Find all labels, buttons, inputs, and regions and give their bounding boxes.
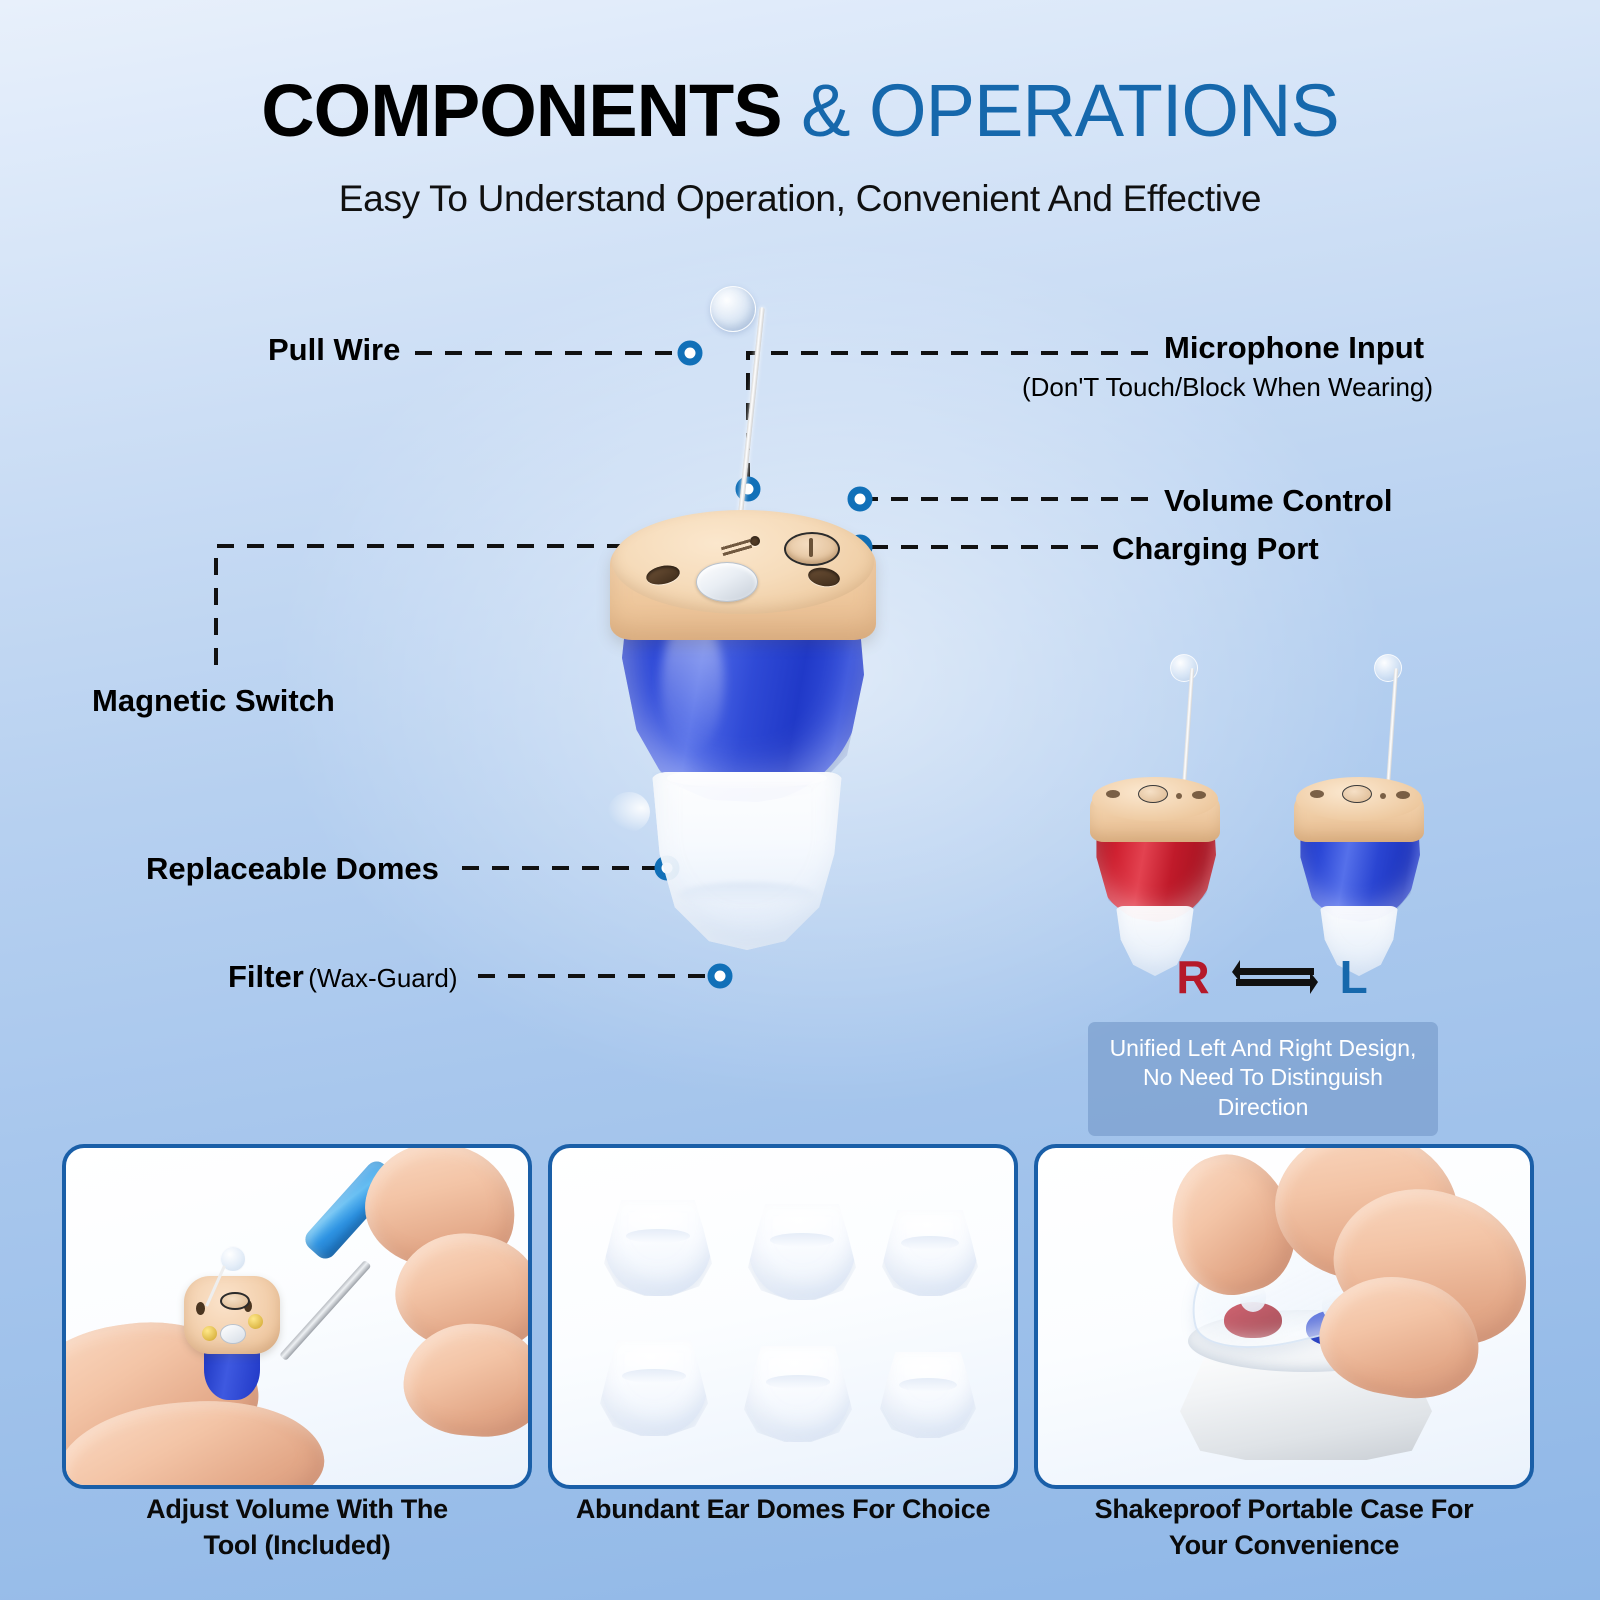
volume-control-knob	[1342, 785, 1372, 803]
pull-wire-strand	[737, 307, 765, 524]
device-top-face	[1092, 777, 1218, 821]
right-letter: R	[1176, 950, 1209, 1004]
bidirectional-arrows-icon	[1232, 955, 1318, 999]
caption-line-1: Shakeproof Portable Case For	[1034, 1492, 1534, 1528]
callout-label-volume-control: Volume Control	[1164, 483, 1392, 519]
panel-caption-adjust-volume: Adjust Volume With The Tool (Included)	[62, 1492, 532, 1563]
device-top-face	[612, 510, 874, 614]
gold-contact	[202, 1326, 217, 1341]
panel-ear-domes[interactable]	[548, 1144, 1018, 1489]
charging-port-hole	[1396, 791, 1410, 799]
pull-wire-strand	[1182, 668, 1194, 786]
caption-line-1: Unified Left And Right Design,	[1098, 1034, 1428, 1063]
feature-panels: Adjust Volume With The Tool (Included) A…	[0, 1140, 1600, 1600]
caption-line-2: Tool (Included)	[62, 1528, 532, 1564]
title-blue-part: & OPERATIONS	[801, 69, 1339, 152]
device-top-face	[1296, 777, 1422, 821]
panel-caption-portable-case: Shakeproof Portable Case For Your Conven…	[1034, 1492, 1534, 1563]
callout-label-charging-port: Charging Port	[1112, 531, 1319, 567]
microphone-vent-icon	[720, 536, 754, 562]
device-blue-shell	[204, 1346, 260, 1400]
ear-dome	[604, 1200, 712, 1296]
hearing-aid-illustration	[598, 472, 888, 832]
finger	[400, 1319, 532, 1441]
ear-dome	[880, 1352, 976, 1438]
hearing-aid-in-hand	[184, 1276, 280, 1396]
hearing-aid-left-blue	[1294, 740, 1424, 940]
ear-dome	[882, 1210, 978, 1296]
pull-wire-bead	[1170, 654, 1198, 682]
left-letter: L	[1340, 950, 1368, 1004]
charging-port-hole	[807, 565, 842, 588]
product-diagram: Pull Wire Microphone Input (Don'T Touch/…	[0, 250, 1600, 1130]
callout-sublabel-filter: (Wax-Guard)	[308, 963, 457, 993]
screwdriver-shaft	[279, 1260, 371, 1361]
magnetic-switch-port	[1310, 790, 1324, 798]
pull-wire-bead	[1374, 654, 1402, 682]
caption-line-2: No Need To Distinguish Direction	[1098, 1063, 1428, 1122]
callout-sublabel-microphone-input: (Don'T Touch/Block When Wearing)	[1022, 372, 1433, 403]
caption-line-2: Your Convenience	[1034, 1528, 1534, 1564]
header: COMPONENTS & OPERATIONS Easy To Understa…	[0, 0, 1600, 250]
marker-filter	[711, 967, 729, 985]
caption-line-1: Adjust Volume With The	[62, 1492, 532, 1528]
marker-pull-wire	[681, 344, 699, 362]
callout-label-microphone-input: Microphone Input	[1164, 330, 1424, 366]
ear-dome	[748, 1204, 856, 1300]
volume-control-knob	[220, 1292, 250, 1310]
device-top-face	[184, 1276, 280, 1354]
ear-dome	[744, 1346, 852, 1442]
pull-wire-bead	[710, 286, 756, 332]
hearing-aid-right-red	[1090, 740, 1220, 940]
page-title: COMPONENTS & OPERATIONS	[0, 74, 1600, 148]
panel-adjust-volume[interactable]	[62, 1144, 532, 1489]
left-right-swap-row: R L	[1082, 948, 1462, 1006]
charging-port-hole	[1192, 791, 1206, 799]
replaceable-dome	[652, 772, 842, 950]
magnetic-switch-plate	[220, 1324, 246, 1344]
gold-contact	[248, 1314, 263, 1329]
title-black-part: COMPONENTS	[261, 69, 781, 152]
left-right-pair: R L	[1082, 660, 1462, 990]
ear-dome	[600, 1340, 708, 1436]
pull-wire-strand	[1386, 668, 1398, 786]
callout-label-pull-wire: Pull Wire	[268, 332, 400, 368]
callout-label-magnetic-switch: Magnetic Switch	[92, 683, 335, 719]
magnetic-switch-port	[196, 1302, 205, 1315]
callout-label-filter-group: Filter (Wax-Guard)	[228, 959, 458, 995]
callout-label-replaceable-domes: Replaceable Domes	[146, 851, 439, 887]
dome-highlight	[608, 792, 650, 832]
panel-caption-ear-domes: Abundant Ear Domes For Choice	[548, 1492, 1018, 1528]
unified-design-caption: Unified Left And Right Design, No Need T…	[1088, 1022, 1438, 1136]
microphone-input-hole	[1176, 793, 1182, 799]
volume-control-knob	[1138, 785, 1168, 803]
volume-control-knob	[784, 532, 840, 566]
callout-label-filter: Filter	[228, 959, 304, 994]
page-subtitle: Easy To Understand Operation, Convenient…	[0, 178, 1600, 220]
magnetic-switch-port	[1106, 790, 1120, 798]
magnetic-switch-plate	[696, 562, 758, 602]
microphone-input-hole	[1380, 793, 1386, 799]
caption-line-1: Abundant Ear Domes For Choice	[548, 1492, 1018, 1528]
magnetic-switch-port	[645, 563, 682, 588]
panel-portable-case[interactable]	[1034, 1144, 1534, 1489]
